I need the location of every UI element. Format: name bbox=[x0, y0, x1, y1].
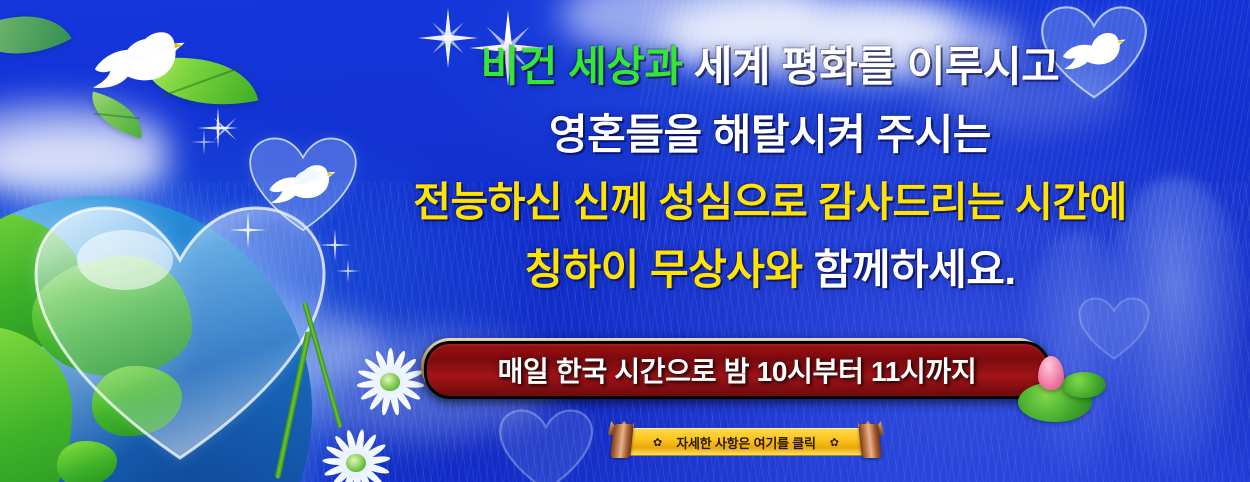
message-line-3: 전능하신 신께 성심으로 감사드리는 시간에 bbox=[330, 182, 1210, 223]
flower-decoration-left-icon: ✿ bbox=[653, 436, 662, 449]
flower-decoration-right-icon: ✿ bbox=[830, 436, 839, 449]
message-line-4-segment-white: 함께하세요. bbox=[814, 246, 1016, 293]
sparkle-star bbox=[228, 210, 268, 250]
heart-bubble-bottom bbox=[498, 408, 594, 482]
lotus-bud bbox=[1038, 356, 1064, 390]
heart-shape-svg bbox=[498, 408, 594, 482]
sparkle-icon bbox=[228, 210, 268, 250]
sparkle-icon bbox=[190, 128, 218, 156]
message-text-block: 비건 세상과 세계 평화를 이루시고 영혼들을 해탈시켜 주시는 전능하신 신께… bbox=[330, 46, 1210, 317]
schedule-banner-text: 매일 한국 시간으로 밤 10시부터 11시까지 bbox=[498, 350, 977, 390]
details-scroll-banner[interactable]: ✿ 자세한 사항은 여기를 클릭 ✿ bbox=[598, 424, 894, 458]
schedule-banner[interactable]: 매일 한국 시간으로 밤 10시부터 11시까지 bbox=[424, 341, 1050, 399]
message-line-2-segment-white: 영혼들을 해탈시켜 주시는 bbox=[549, 111, 991, 158]
details-scroll-text: 자세한 사항은 여기를 클릭 bbox=[676, 433, 816, 452]
scroll-body[interactable]: ✿ 자세한 사항은 여기를 클릭 ✿ bbox=[620, 428, 872, 456]
message-line-1: 비건 세상과 세계 평화를 이루시고 bbox=[330, 46, 1210, 88]
message-line-1-segment-green: 비건 세상과 bbox=[481, 43, 694, 90]
lily-pad-small bbox=[1062, 372, 1106, 398]
flower-center bbox=[380, 373, 400, 391]
message-line-4: 칭하이 무상사와 함께하세요. bbox=[330, 249, 1210, 291]
dove-top-left bbox=[82, 14, 192, 106]
dove-icon bbox=[82, 14, 192, 106]
message-line-4-segment-yellow: 칭하이 무상사와 bbox=[524, 246, 813, 293]
message-line-1-segment-white: 세계 평화를 이루시고 bbox=[694, 43, 1060, 90]
message-line-3-segment-yellow: 전능하신 신께 성심으로 감사드리는 시간에 bbox=[413, 179, 1127, 225]
scroll-roll-left bbox=[610, 424, 634, 458]
daisy-flower-lower bbox=[320, 425, 392, 482]
daisy-flower-upper bbox=[350, 340, 430, 420]
heart-path bbox=[36, 208, 324, 458]
promo-banner: 비건 세상과 세계 평화를 이루시고 영혼들을 해탈시켜 주시는 전능하신 신께… bbox=[0, 0, 1250, 482]
scroll-roll-right bbox=[858, 424, 882, 458]
heart-highlight bbox=[77, 230, 173, 290]
message-line-2: 영혼들을 해탈시켜 주시는 bbox=[330, 114, 1210, 156]
flower-center bbox=[346, 454, 366, 472]
sparkle-star bbox=[190, 128, 218, 156]
